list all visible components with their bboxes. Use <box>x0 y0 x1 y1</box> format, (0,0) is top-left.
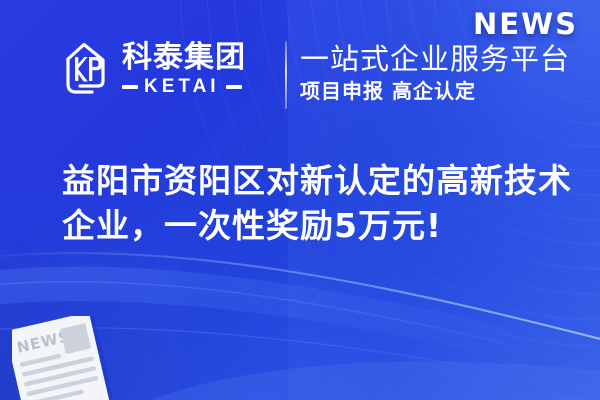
headline: 益阳市资阳区对新认定的高新技术 企业，一次性奖励5万元! <box>62 158 562 248</box>
news-banner: 科泰集团 KETAI 一站式企业服务平台 项目申报 高企认定 NEWS 益阳市资… <box>0 0 600 400</box>
headline-line-1: 益阳市资阳区对新认定的高新技术 <box>62 158 562 203</box>
logo-dash-right-icon <box>226 85 242 89</box>
headline-line-2: 企业，一次性奖励5万元! <box>62 203 562 248</box>
logo-dash-left-icon <box>122 85 138 89</box>
brand-logo[interactable]: 科泰集团 KETAI <box>58 40 246 98</box>
slogan-block: 一站式企业服务平台 项目申报 高企认定 <box>300 42 570 103</box>
slogan-main: 一站式企业服务平台 <box>300 42 570 76</box>
slogan-sub: 项目申报 高企认定 <box>300 79 570 103</box>
ketai-kp-diamond-logo-icon <box>58 40 112 98</box>
brand-name-en: KETAI <box>144 76 220 97</box>
vertical-divider <box>285 41 287 109</box>
newspaper-document-icon: NEWS <box>12 316 124 400</box>
brand-name-cn: 科泰集团 <box>122 41 246 75</box>
brand-name-en-row: KETAI <box>122 76 246 97</box>
news-badge: NEWS <box>473 8 578 40</box>
